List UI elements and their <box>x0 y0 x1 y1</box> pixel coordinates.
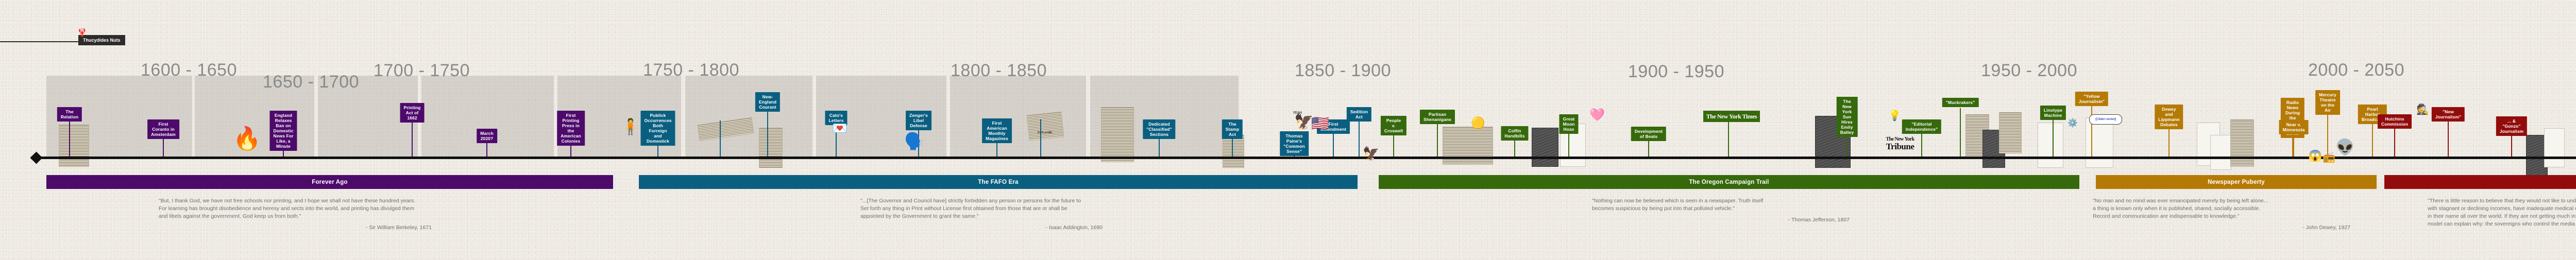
quote-block-jefferson: "Nothing can now be believed which is se… <box>1592 197 1850 224</box>
citation-needed-bubble: {{Citation needed}} <box>2089 114 2122 125</box>
era-bar-label: The FAFO Era <box>978 179 1018 185</box>
event-label[interactable]: Hutchins Commission <box>2378 114 2412 129</box>
event-stem <box>2053 116 2054 157</box>
era-panel-1950 <box>950 76 1086 158</box>
artifact-yellow-kid <box>2086 117 2113 168</box>
radio-icon: 📻 <box>2323 152 2335 163</box>
event-label[interactable]: Coffin Handbills <box>1501 126 1528 141</box>
era-title-1750: 1750 - 1800 <box>643 60 739 80</box>
axis-start-cap <box>30 151 42 164</box>
era-title-1650: 1650 - 1700 <box>263 72 359 92</box>
era-bar-label: Newspaper Puberty <box>2208 179 2265 185</box>
era-bar-puberty: Newspaper Puberty <box>2096 175 2377 189</box>
artifact-john-dewey-book <box>2230 119 2254 167</box>
lobster-icon: 🦞 <box>77 29 87 37</box>
quote-block-addington: "...[The Governor and Council have] stri… <box>860 197 1103 232</box>
quote-block-dewey: "No man and no mind was ever emancipated… <box>2093 197 2350 232</box>
era-title-2000: 2000 - 2050 <box>2308 60 2404 80</box>
event-label[interactable]: Partisan Shenanigans <box>1420 110 1455 124</box>
yeah-caption: YEAH <box>1290 110 1305 115</box>
event-label[interactable]: First Printing Press in the American Col… <box>557 111 585 146</box>
nytimes-masthead: The New York Times <box>1703 111 1760 122</box>
artifact-new-england-courant <box>759 128 783 168</box>
event-label[interactable]: Printing Act of 1662 <box>400 103 425 123</box>
detective-icon: 🕵️ <box>2416 105 2429 115</box>
event-label[interactable]: Linotype Machine <box>2040 106 2066 120</box>
artifact-phantom-public-book <box>2210 135 2231 170</box>
era-bar-oregon: The Oregon Campaign Trail <box>1379 175 2079 189</box>
era-panel-1850 <box>685 76 812 158</box>
event-label[interactable]: "New Journalism" <box>2432 107 2465 122</box>
timeline-axis <box>31 157 2576 159</box>
join-or-die-caption: JOIN, or DIE. <box>1029 130 1061 136</box>
event-stem <box>2091 102 2092 157</box>
quote-attribution: - Edward S. Herman, 1988 <box>2428 232 2576 239</box>
clefairy-icon: 🩷 <box>1589 109 1605 122</box>
nytribune-masthead-line2: Tribune <box>1879 142 1921 152</box>
timeline-stage: 🦞 Thucydides Nuts 1600 - 1650 1650 - 170… <box>0 0 2576 260</box>
event-stem <box>1359 117 1360 157</box>
event-label[interactable]: "Yellow Journalism" <box>2075 92 2108 106</box>
book-burning-icon: 🔥 <box>233 128 261 150</box>
era-panel-1750 <box>421 76 554 158</box>
quote-text: "...[The Governor and Council have] stri… <box>860 197 1103 220</box>
event-label[interactable]: Development of Beats <box>1631 127 1666 141</box>
event-label[interactable]: Dewey and Lippmann Debates <box>2155 105 2183 129</box>
pacman-icon: 🟡 <box>1471 117 1485 129</box>
event-label[interactable]: Sedition Act <box>1347 107 1371 122</box>
era-bar-fafo: The FAFO Era <box>639 175 1358 189</box>
event-label[interactable]: Dedicated "Classified" Sections <box>1143 119 1175 139</box>
event-label[interactable]: "Muckrakers" <box>1942 98 1979 107</box>
event-label[interactable]: First American Monthly Magazines <box>982 118 1012 143</box>
event-label[interactable]: Great Moon Hoax <box>1559 114 1578 134</box>
american-flag-icon: 🇺🇸 <box>1311 116 1329 131</box>
era-title-1600: 1600 - 1650 <box>141 60 237 80</box>
era-bar-label: The Oregon Campaign Trail <box>1689 179 1769 185</box>
event-label[interactable]: The Stamp Act <box>1222 119 1243 139</box>
event-label[interactable]: Zenger's Libel Defense <box>906 111 931 130</box>
era-title-1700: 1700 - 1750 <box>374 61 470 81</box>
artifact-fear-loathing-book <box>2544 128 2565 167</box>
quote-block-berkeley: "But, I thank God, we have not free scho… <box>159 197 432 232</box>
scream-icon: 😱 <box>2308 150 2322 162</box>
quote-attribution: - Thomas Jefferson, 1807 <box>1592 216 1850 224</box>
quote-text: "But, I thank God, we have not free scho… <box>159 197 432 220</box>
eagle-gavel-icon: 🦅 <box>1363 147 1379 160</box>
event-label[interactable]: March 2020? <box>477 129 497 143</box>
quote-text: "No man and no mind was ever emancipated… <box>2093 197 2350 220</box>
event-stem <box>2394 125 2395 157</box>
era-title-1950: 1950 - 2000 <box>1981 61 2077 81</box>
event-label[interactable]: Near v. Minnesota <box>2279 120 2309 134</box>
era-title-1850: 1850 - 1900 <box>1295 61 1391 81</box>
artifact-classified-page <box>1101 107 1134 162</box>
quote-text: "Nothing can now be believed which is se… <box>1592 197 1850 213</box>
quote-attribution: - John Dewey, 1927 <box>2093 224 2350 232</box>
era-bar-label: Forever Ago <box>312 179 348 185</box>
event-label[interactable]: People v. Croswell <box>1381 116 1406 135</box>
quote-text: "There is little reason to believe that … <box>2428 197 2576 228</box>
event-label[interactable]: "Editorial Independence" <box>1902 119 1941 134</box>
artifact-stamp-act <box>1223 135 1244 168</box>
artifact-the-relation <box>59 125 89 167</box>
era-title-1800: 1800 - 1850 <box>951 61 1047 81</box>
event-stem <box>69 117 70 157</box>
quote-attribution: - Sir William Berkeley, 1671 <box>159 224 432 232</box>
event-label[interactable]: The New York Sun Hires Emily Battey <box>1837 97 1858 137</box>
artifact-muckraker-pamphlet-b <box>1999 112 2022 153</box>
newsboy-icon: 🧍 <box>621 119 640 135</box>
objection-lawyer-icon: 🗣️ <box>904 133 925 149</box>
event-stem <box>2448 117 2449 157</box>
alien-ufo-icon: 👽 <box>2335 140 2354 155</box>
letter-envelope-icon: 💌 <box>832 123 848 135</box>
artifact-linotype-drawing <box>2038 123 2063 168</box>
event-label[interactable]: New-England Courant <box>755 92 780 112</box>
quote-attribution: - Isaac Addington, 1690 <box>860 224 1103 232</box>
event-label[interactable]: England Relaxes Ban on Domestic News For… <box>269 111 297 151</box>
event-label[interactable]: ... & "Gonzo" Journalism <box>2496 116 2527 136</box>
artifact-moon-hoax-engraving <box>1532 128 1558 167</box>
event-label[interactable]: Thomas Paine's "Common Sense" <box>1280 131 1309 156</box>
pre-timeline-axis <box>0 41 78 42</box>
event-stem <box>1437 120 1438 157</box>
event-label[interactable]: Publick Occurrences Both Forreign and Do… <box>640 111 675 146</box>
era-bar-forever-ago: Forever Ago <box>46 175 613 189</box>
event-stem <box>1960 108 1961 157</box>
era-title-1900: 1900 - 1950 <box>1628 62 1724 82</box>
gear-icon: ⚙️ <box>2067 119 2078 128</box>
lightbulb-icon: 💡 <box>1888 111 1901 121</box>
quote-block-herman: "There is little reason to believe that … <box>2428 197 2576 239</box>
event-label[interactable]: First Coranto in Amsterdam <box>147 119 179 139</box>
event-label[interactable]: Mercury Theatre on the Air <box>2315 90 2340 115</box>
era-bar-prometheus: Prometheus Burns Himself <box>2384 175 2576 189</box>
eagle-flag-icon: 🦅 <box>1294 114 1313 130</box>
event-label[interactable]: The Relation <box>57 107 82 122</box>
